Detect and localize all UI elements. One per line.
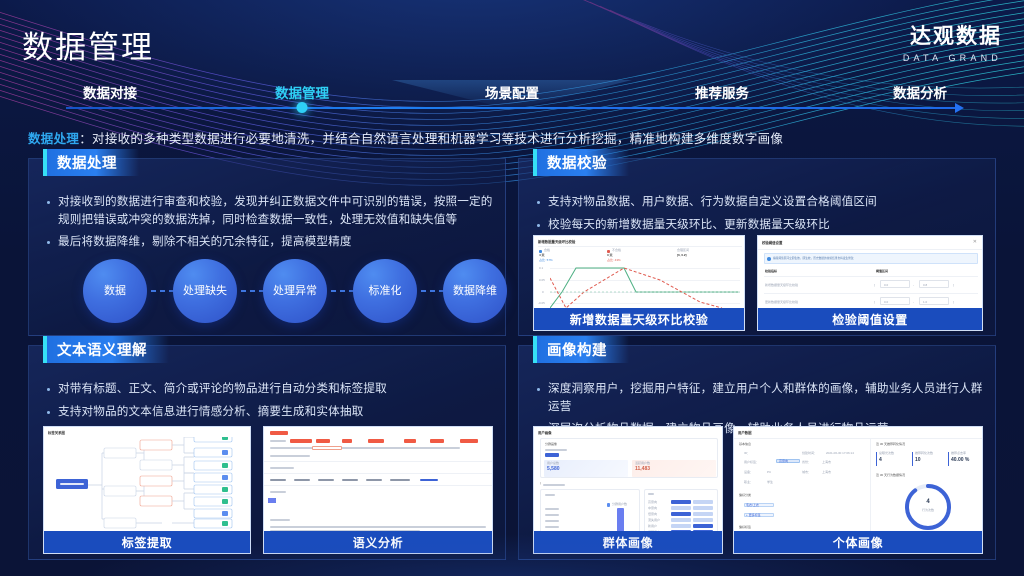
flow-node-label: 标准化 bbox=[363, 284, 408, 298]
bullet-text: 对接收到的数据进行审查和校验，发现并纠正数据文件中可识别的错误，按照一定的规则把… bbox=[58, 193, 493, 228]
y-tick-3: 0 bbox=[542, 290, 544, 294]
nav-item-data-integration[interactable]: 数据对接 bbox=[83, 82, 137, 102]
nav-item-data-management[interactable]: 数据管理 bbox=[275, 82, 329, 102]
threshold-max-input-2[interactable]: 1.0 bbox=[919, 297, 949, 305]
table-row-metric: 更新数据量天级环比校验 bbox=[765, 300, 798, 304]
intro-text: 对接收的多种类型数据进行必要地清洗，并结合自然语言处理和机器学习等技术进行分析挖… bbox=[92, 132, 783, 146]
bullet-dot-icon bbox=[537, 201, 540, 204]
info-icon bbox=[767, 257, 771, 261]
metric-label-1: 总曝光次数 bbox=[879, 451, 894, 455]
bullet-dot-icon bbox=[47, 411, 50, 414]
card-title-text-semantics: 文本语义理解 bbox=[43, 336, 169, 363]
mini-chart-title: 用户数据 bbox=[738, 430, 752, 435]
flow-node-4: 标准化 bbox=[353, 259, 417, 323]
metric-value-2: 10 bbox=[915, 457, 921, 463]
legend-value-unqualified: 3 天 bbox=[607, 253, 613, 257]
metric-value-3: 40.00 % bbox=[951, 457, 969, 463]
bullet-item: 校验每天的新增数据量天级环比、更新数据量天级环比 bbox=[535, 216, 983, 234]
screenshot-image: 校验阈值设置 ✕ 编辑阈值区间立即生效，即生效，历史数据的校验结果也将发生修改 … bbox=[758, 236, 982, 308]
bullet-item: 最后将数据降维，剔除不相关的冗余特征，提高模型精度 bbox=[45, 233, 493, 251]
section-tags-label: 偏好分类 bbox=[739, 493, 751, 497]
flow-node-label: 处理异常 bbox=[267, 284, 323, 298]
ring-value: 4 bbox=[902, 499, 954, 505]
y-tick-4: -0.05 bbox=[538, 301, 545, 305]
screenshot-image: 用户画像 分群画像 用户总数 5,580 活跃用户数 11,483 | bbox=[534, 427, 722, 531]
intro-keyword: 数据处理 bbox=[28, 132, 79, 146]
screenshot-semantic-analysis[interactable]: 语义分析 bbox=[263, 426, 493, 554]
screenshot-caption: 语义分析 bbox=[264, 531, 492, 553]
screenshot-image: 用户数据 基本信息 ID： 用户标签： 高意向 设备： PC 职业： 学生 创建… bbox=[734, 427, 982, 531]
card-data-processing: 数据处理 对接收到的数据进行审查和校验，发现并纠正数据文件中可识别的错误，按照一… bbox=[28, 158, 506, 336]
stat-label-1: 用户总数 bbox=[547, 461, 559, 465]
stat-value-1: 5,580 bbox=[547, 466, 560, 472]
legend-label-range: 合理区间 bbox=[677, 248, 689, 252]
threshold-min-input-2[interactable]: 0.0 bbox=[880, 297, 910, 305]
panel-title-behavior: 近 30 天行为数据情况 bbox=[876, 473, 905, 477]
screenshot-individual-portrait[interactable]: 用户数据 基本信息 ID： 用户标签： 高意向 设备： PC 职业： 学生 创建… bbox=[733, 426, 983, 554]
bullet-item: 深度洞察用户，挖掘用户特征，建立用户个人和群体的画像，辅助业务人员进行人群运营 bbox=[535, 380, 983, 415]
stat-card-2: 活跃用户数 11,483 bbox=[632, 460, 716, 477]
bullet-item: 对带有标题、正文、简介或评论的物品进行自动分类和标签提取 bbox=[45, 380, 493, 398]
bullet-list-text-semantics: 对带有标题、正文、简介或评论的物品进行自动分类和标签提取 支持对物品的文本信息进… bbox=[45, 380, 493, 425]
legend-value-range: [0, 0.2] bbox=[677, 253, 687, 257]
threshold-max-input-1[interactable]: 0.8 bbox=[919, 280, 949, 288]
flow-node-2: 处理缺失 bbox=[173, 259, 237, 323]
screenshot-caption: 标签提取 bbox=[44, 531, 250, 553]
bullet-text: 最后将数据降维，剔除不相关的冗余特征，提高模型精度 bbox=[58, 233, 352, 251]
bullet-text: 对带有标题、正文、简介或评论的物品进行自动分类和标签提取 bbox=[58, 380, 387, 398]
dialog-title: 校验阈值设置 bbox=[762, 240, 782, 245]
flow-node-1: 数据 bbox=[83, 259, 147, 323]
matrix-panel: 高意向 中意向 低意向 流失用户 新用户 活跃用户 bbox=[644, 489, 718, 531]
bullet-item: 对接收到的数据进行审查和校验，发现并纠正数据文件中可识别的错误，按照一定的规则把… bbox=[45, 193, 493, 228]
bullet-list-validation: 支持对物品数据、用户数据、行为数据自定义设置合格阈值区间 校验每天的新增数据量天… bbox=[535, 193, 983, 238]
card-title-data-processing: 数据处理 bbox=[43, 149, 139, 176]
mini-chart-title: 标签关系图 bbox=[48, 430, 65, 435]
bullet-dot-icon bbox=[537, 388, 540, 391]
mini-chart-title: 新增数据量天级环比校验 bbox=[538, 239, 575, 244]
nav-item-scene-config[interactable]: 场景配置 bbox=[485, 82, 539, 102]
card-data-validation: 数据校验 支持对物品数据、用户数据、行为数据自定义设置合格阈值区间 校验每天的新… bbox=[518, 158, 996, 336]
mini-chart-title: 用户画像 bbox=[538, 430, 552, 435]
section-hist-label: 偏好标签 bbox=[739, 525, 751, 529]
bullet-text: 校验每天的新增数据量天级环比、更新数据量天级环比 bbox=[548, 216, 830, 234]
slide-root: 数据管理 达观数据 DATA GRAND 数据对接 数据管理 场景配置 推荐服务… bbox=[0, 0, 1024, 576]
table-header-metric: 校验指标 bbox=[765, 269, 777, 273]
panel-title-conversion: 近 30 天推荐转化情况 bbox=[876, 442, 905, 446]
metric-label-3: 推荐点击率 bbox=[951, 451, 966, 455]
stat-label-2: 活跃用户数 bbox=[635, 461, 650, 465]
field-createtime: 创建时间： bbox=[802, 451, 817, 455]
nav-item-data-analysis[interactable]: 数据分析 bbox=[893, 82, 947, 102]
step-nav: 数据对接 数据管理 场景配置 推荐服务 数据分析 bbox=[0, 82, 1024, 114]
page-title: 数据管理 bbox=[22, 22, 154, 67]
legend-value-qualified: 4 天 bbox=[539, 253, 545, 257]
legend-label-qualified: 合格 bbox=[544, 248, 550, 252]
flow-node-label: 处理缺失 bbox=[177, 284, 233, 298]
logo-chinese: 达观数据 bbox=[903, 20, 1002, 50]
token-annotation-grid bbox=[268, 498, 490, 514]
intro-separator: ： bbox=[79, 132, 92, 146]
flow-node-label: 数据 bbox=[98, 284, 132, 298]
field-device: 设备： bbox=[744, 470, 753, 474]
card-portrait-building: 画像构建 深度洞察用户，挖掘用户特征，建立用户个人和群体的画像，辅助业务人员进行… bbox=[518, 345, 996, 560]
bullet-item: 支持对物品的文本信息进行情感分析、摘要生成和实体抽取 bbox=[45, 403, 493, 421]
field-province: 省份： bbox=[802, 460, 811, 464]
nav-arrow-icon bbox=[955, 103, 964, 113]
nav-item-recommend-service[interactable]: 推荐服务 bbox=[695, 82, 749, 102]
nav-active-dot bbox=[297, 102, 308, 113]
field-city: 城市： bbox=[802, 470, 811, 474]
legend-label-unqualified: 不合格 bbox=[612, 248, 621, 252]
section-basic-label: 基本信息 bbox=[739, 442, 751, 446]
flow-node-label: 数据降维 bbox=[447, 284, 503, 298]
screenshot-image: 标签关系图 bbox=[44, 427, 250, 531]
field-id: ID： bbox=[744, 451, 750, 455]
brand-logo: 达观数据 DATA GRAND bbox=[903, 20, 1002, 63]
screenshot-threshold-dialog[interactable]: 校验阈值设置 ✕ 编辑阈值区间立即生效，即生效，历史数据的校验结果也将发生修改 … bbox=[757, 235, 983, 331]
y-tick-1: 0.1 bbox=[539, 266, 543, 270]
notice-text: 编辑阈值区间立即生效，即生效，历史数据的校验结果也将发生修改 bbox=[773, 256, 973, 260]
screenshot-caption: 检验阈值设置 bbox=[758, 308, 982, 330]
card-title-portrait: 画像构建 bbox=[533, 336, 629, 363]
flow-node-3: 处理异常 bbox=[263, 259, 327, 323]
bullet-dot-icon bbox=[47, 201, 50, 204]
logo-english: DATA GRAND bbox=[903, 53, 1002, 63]
threshold-min-input-1[interactable]: 0.0 bbox=[880, 280, 910, 288]
screenshot-image bbox=[264, 427, 492, 531]
bullet-text: 支持对物品数据、用户数据、行为数据自定义设置合格阈值区间 bbox=[548, 193, 877, 211]
bullet-text: 支持对物品的文本信息进行情感分析、摘要生成和实体抽取 bbox=[58, 403, 363, 421]
card-text-semantics: 文本语义理解 对带有标题、正文、简介或评论的物品进行自动分类和标签提取 支持对物… bbox=[28, 345, 506, 560]
y-tick-2: 0.05 bbox=[539, 278, 545, 282]
table-header-range: 阈值区间 bbox=[876, 269, 888, 273]
stat-group-label: 分群画像 bbox=[545, 442, 557, 446]
bullet-dot-icon bbox=[47, 241, 50, 244]
bullet-dot-icon bbox=[537, 224, 540, 227]
intro-line: 数据处理：对接收的多种类型数据进行必要地清洗，并结合自然语言处理和机器学习等技术… bbox=[28, 128, 783, 147]
bullet-item: 支持对物品数据、用户数据、行为数据自定义设置合格阈值区间 bbox=[535, 193, 983, 211]
field-job: 职业： bbox=[744, 480, 753, 484]
field-usertag-label: 用户标签： bbox=[744, 460, 759, 464]
close-icon[interactable]: ✕ bbox=[973, 239, 977, 245]
ring-label: 行为次数 bbox=[902, 508, 954, 512]
flow-node-5: 数据降维 bbox=[443, 259, 507, 323]
screenshot-image: 新增数据量天级环比校验 合格 4 天 占比: 57% 不合格 3 天 占比: 4… bbox=[534, 236, 744, 308]
stat-panel: 分群画像 用户总数 5,580 活跃用户数 11,483 bbox=[540, 438, 718, 478]
nav-progress-line bbox=[66, 107, 958, 109]
bar bbox=[617, 508, 624, 531]
metric-value-1: 4 bbox=[879, 457, 882, 463]
bar-chart-panel: 分群用户数 bbox=[540, 489, 640, 531]
chart-series bbox=[550, 262, 740, 308]
metric-label-2: 推荐转化次数 bbox=[915, 451, 933, 455]
screenshot-caption: 群体画像 bbox=[534, 531, 722, 553]
card-title-data-validation: 数据校验 bbox=[533, 149, 629, 176]
behavior-ring-chart bbox=[902, 481, 954, 531]
bullet-text: 深度洞察用户，挖掘用户特征，建立用户个人和群体的画像，辅助业务人员进行人群运营 bbox=[548, 380, 983, 415]
screenshot-group-portrait[interactable]: 用户画像 分群画像 用户总数 5,580 活跃用户数 11,483 | bbox=[533, 426, 723, 554]
stat-card-1: 用户总数 5,580 bbox=[544, 460, 628, 477]
stat-value-2: 11,483 bbox=[635, 466, 650, 472]
screenshot-caption: 新增数据量天级环比校验 bbox=[534, 308, 744, 330]
screenshot-caption: 个体画像 bbox=[734, 531, 982, 553]
field-usertag-value: 高意向 bbox=[779, 459, 788, 463]
bullet-list-processing: 对接收到的数据进行审查和校验，发现并纠正数据文件中可识别的错误，按照一定的规则把… bbox=[45, 193, 493, 256]
tree-diagram bbox=[44, 437, 250, 531]
table-row-metric: 新增数据量天级环比校验 bbox=[765, 283, 798, 287]
screenshot-daily-growth-chart[interactable]: 新增数据量天级环比校验 合格 4 天 占比: 57% 不合格 3 天 占比: 4… bbox=[533, 235, 745, 331]
bullet-dot-icon bbox=[47, 388, 50, 391]
screenshot-tag-extraction[interactable]: 标签关系图 bbox=[43, 426, 251, 554]
annotation-token bbox=[268, 498, 276, 503]
processing-flow-diagram: 数据 处理缺失 处理异常 标准化 数据降维 bbox=[51, 259, 491, 327]
